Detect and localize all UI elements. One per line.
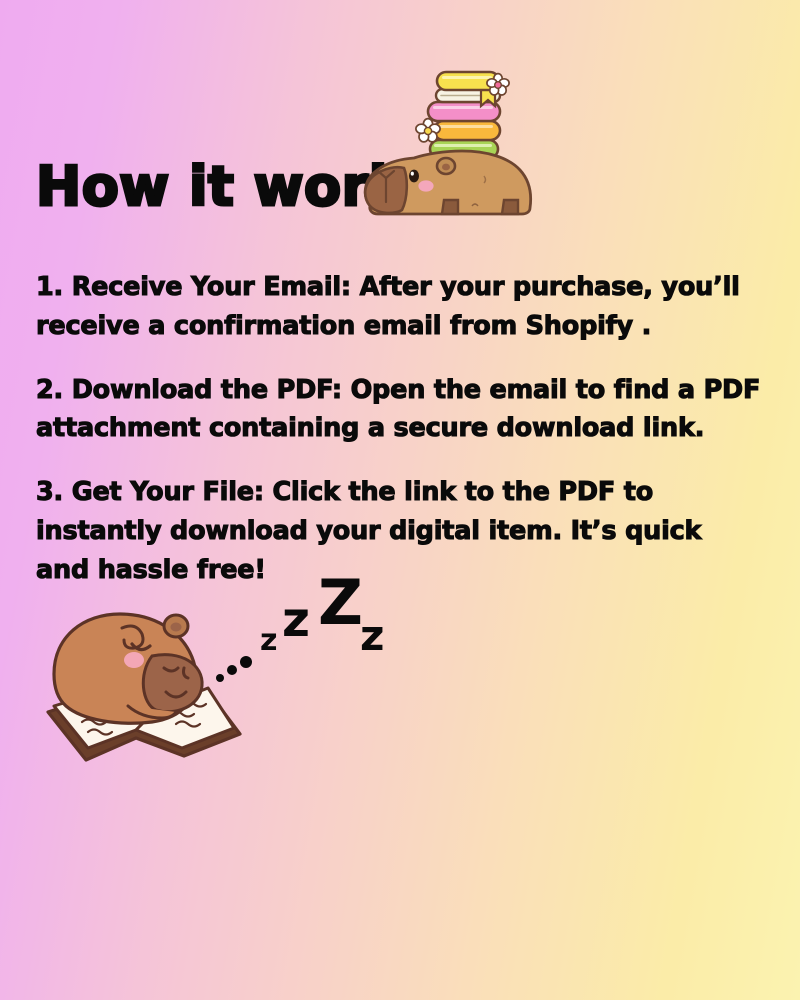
step-item-3: 3. Get Your File: Click the link to the … xyxy=(36,473,762,589)
sleep-dot-3 xyxy=(240,656,252,668)
capybara-body xyxy=(365,151,530,214)
step-item-1: 1. Receive Your Email: After your purcha… xyxy=(36,268,762,346)
capybara-ear xyxy=(437,158,455,174)
capybara-sleeping-cheek xyxy=(124,652,144,668)
poster-canvas: How it works xyxy=(0,0,800,1000)
capybara-cheek xyxy=(418,180,433,191)
capybara-with-books-illustration xyxy=(352,58,552,244)
capybara-snout xyxy=(143,655,202,712)
front-hoof xyxy=(442,200,458,214)
sleeping-capybara-illustration: z z Z z xyxy=(24,588,424,793)
sleeping-capybara-svg: z z Z z xyxy=(24,588,424,793)
sleep-z-2: z xyxy=(282,592,310,648)
step-item-2: 2. Download the PDF: Open the email to f… xyxy=(36,371,762,449)
capybara-sleeping-ear xyxy=(164,615,188,637)
sleep-z-3: Z xyxy=(318,566,363,639)
rear-hoof xyxy=(502,200,518,214)
capybara-sleeping-body xyxy=(54,614,202,723)
capybara-eye xyxy=(409,170,419,183)
orange-book-icon xyxy=(434,121,500,140)
capybara-with-books-svg xyxy=(352,58,552,244)
steps-list: 1. Receive Your Email: After your purcha… xyxy=(36,268,762,589)
pink-book-icon xyxy=(428,102,500,121)
sleep-z-4: z xyxy=(360,611,384,660)
sleep-dot-1 xyxy=(216,674,224,682)
sleep-z-1: z xyxy=(260,623,277,658)
sleep-dot-2 xyxy=(227,665,237,675)
